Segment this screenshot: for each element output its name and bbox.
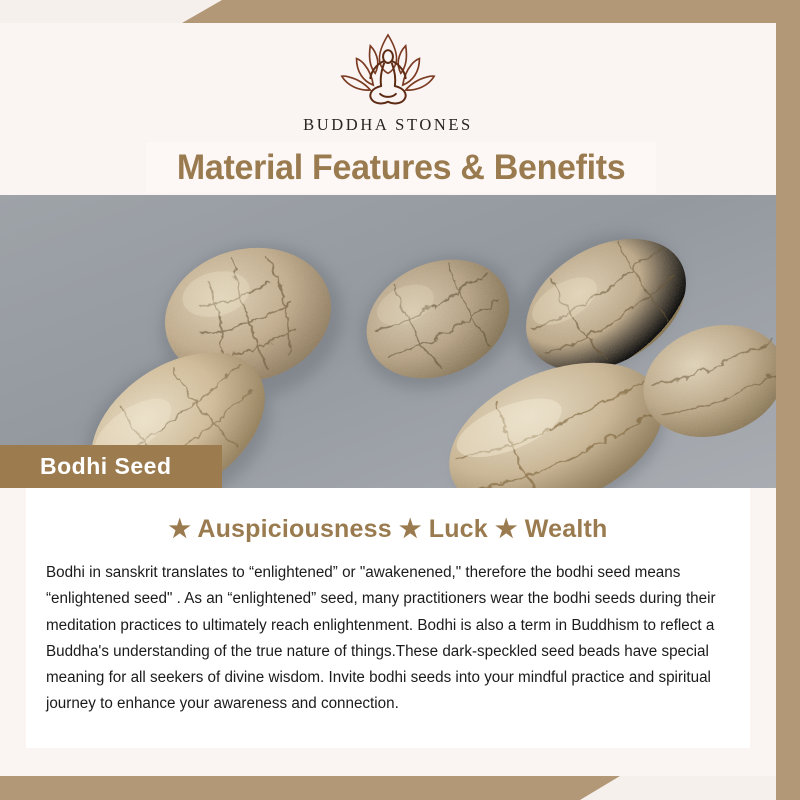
content-card: ★ Auspiciousness ★ Luck ★ Wealth Bodhi i… bbox=[26, 488, 750, 748]
frame-bottom-band bbox=[0, 776, 620, 800]
brand-name: BUDDHA STONES bbox=[303, 115, 473, 135]
frame-right-band bbox=[776, 0, 800, 800]
frame-top-band bbox=[182, 0, 800, 23]
description-text: Bodhi in sanskrit translates to “enlight… bbox=[38, 560, 735, 718]
seed-name-label: Bodhi Seed bbox=[0, 453, 172, 480]
page-title: Material Features & Benefits bbox=[177, 148, 625, 188]
seed-name-badge: Bodhi Seed bbox=[0, 445, 222, 488]
title-banner: Material Features & Benefits bbox=[146, 142, 656, 193]
benefits-headline: ★ Auspiciousness ★ Luck ★ Wealth bbox=[38, 514, 738, 544]
lotus-meditation-figure-icon bbox=[329, 31, 447, 113]
brand-header: BUDDHA STONES bbox=[0, 23, 776, 148]
